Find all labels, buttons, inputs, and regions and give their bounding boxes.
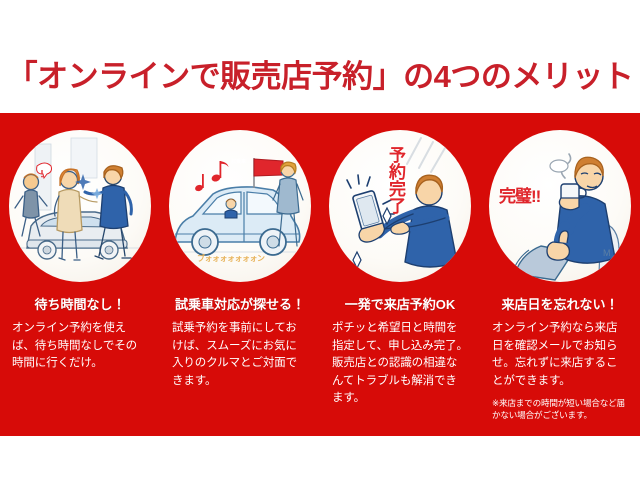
engine-sound-text: ブォォォォォォォン: [197, 253, 265, 264]
benefit-heading: 待ち時間なし！: [34, 298, 125, 312]
benefits-band: 待ち時間なし！ オンライン予約を使えば、待ち時間なしでその時間に行くだけ。: [0, 113, 640, 436]
illustration-test-drive-car-scene: 試乗車 ブォォォォォォォン: [169, 130, 311, 282]
benefit-heading: 来店日を忘れない！: [501, 298, 618, 312]
illustration-relaxed-thumbs-up-scene: M 完璧!!: [489, 130, 631, 282]
infographic-page: 「オンラインで販売店予約」の4つのメリット: [0, 0, 640, 480]
benefit-body: ポチッと希望日と時間を指定して、申し込み完了。販売店との認識の相違なんてトラブル…: [332, 320, 468, 407]
page-title: 「オンラインで販売店予約」の4つのメリット: [0, 44, 640, 108]
benefit-body: 試乗予約を事前にしておけば、スムーズにお気に入りのクルマとご対面できます。: [172, 320, 308, 390]
benefit-panel-test-drive: 試乗車 ブォォォォォォォン 試乗車対応が探せる！ 試乗予約を事前にしておけば、ス…: [160, 113, 320, 436]
benefit-panel-wait-time: 待ち時間なし！ オンライン予約を使えば、待ち時間なしでその時間に行くだけ。: [0, 113, 160, 436]
benefit-heading: 試乗車対応が探せる！: [175, 298, 305, 312]
illustration-smartphone-booking-complete-scene: 予約完了: [329, 130, 471, 282]
benefit-body: オンライン予約を使えば、待ち時間なしでその時間に行くだけ。: [12, 320, 148, 372]
illustration-dealership-greeting-scene: [9, 130, 151, 282]
benefit-note: ※来店までの時間が短い場合など届かない場合がございます。: [492, 397, 628, 421]
benefit-panel-one-tap-booking: 予約完了 一発で来店予約OK ポチッと希望日と時間を指定して、申し込み完了。販売…: [320, 113, 480, 436]
perfect-text: 完璧!!: [499, 188, 540, 205]
page-title-text: 「オンラインで販売店予約」の4つのメリット: [7, 61, 634, 92]
benefit-panel-reminder-mail: M 完璧!! 来店日を忘れない！ オンライン予約なら来店日を確認メールでお知らせ…: [480, 113, 640, 436]
svg-text:M: M: [603, 248, 611, 258]
benefit-heading: 一発で来店予約OK: [345, 298, 456, 312]
booking-complete-text: 予約完了: [387, 146, 404, 214]
flag-label: 試乗車: [231, 160, 246, 165]
benefit-body: オンライン予約なら来店日を確認メールでお知らせ。忘れずに来店することができます。: [492, 320, 628, 390]
